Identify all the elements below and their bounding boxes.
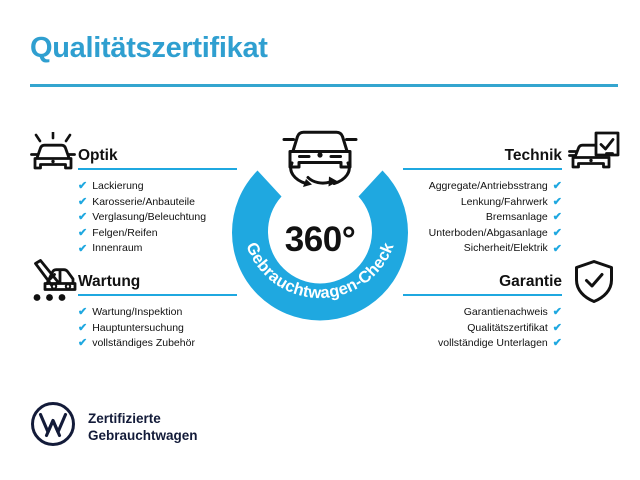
list-item-label: Lenkung/Fahrwerk bbox=[461, 195, 548, 211]
check-icon: ✔ bbox=[553, 181, 562, 192]
list-item-label: Hauptuntersuchung bbox=[92, 321, 184, 337]
section-header-technik: Technik bbox=[403, 140, 562, 170]
section-title-technik: Technik bbox=[505, 147, 562, 165]
checklist-wartung: ✔Wartung/Inspektion ✔Hauptuntersuchung ✔… bbox=[78, 305, 237, 352]
badge-360-gebrauchtwagen-check: Gebrauchtwagen-Check 360° bbox=[218, 118, 422, 322]
certificate-page: Qualitätszertifikat Optik ✔Lackierung bbox=[0, 0, 640, 480]
check-icon: ✔ bbox=[553, 338, 562, 349]
vw-logo-icon bbox=[31, 402, 75, 451]
list-item-label: Innenraum bbox=[92, 241, 142, 257]
section-garantie: Garantie Garantienachweis✔ Qualitätszert… bbox=[403, 266, 562, 352]
checklist-garantie: Garantienachweis✔ Qualitätszertifikat✔ v… bbox=[403, 305, 562, 352]
car-service-pen-icon bbox=[27, 259, 79, 310]
check-icon: ✔ bbox=[78, 307, 87, 318]
list-item: Unterboden/Abgasanlage✔ bbox=[403, 226, 562, 242]
section-underline-garantie bbox=[403, 294, 562, 297]
header-divider bbox=[30, 84, 618, 87]
list-item-label: Sicherheit/Elektrik bbox=[464, 241, 548, 257]
badge-center-label: 360° bbox=[285, 220, 355, 259]
section-title-wartung: Wartung bbox=[78, 273, 140, 291]
check-icon: ✔ bbox=[553, 212, 562, 223]
section-header-garantie: Garantie bbox=[403, 266, 562, 296]
section-underline-technik bbox=[403, 168, 562, 171]
list-item: Aggregate/Antriebsstrang✔ bbox=[403, 179, 562, 195]
list-item: ✔Wartung/Inspektion bbox=[78, 305, 237, 321]
footer-brand: Zertifizierte Gebrauchtwagen bbox=[31, 402, 198, 451]
list-item-label: Qualitätszertifikat bbox=[467, 321, 548, 337]
section-wartung: Wartung ✔Wartung/Inspektion ✔Hauptunters… bbox=[78, 266, 237, 352]
list-item: ✔Karosserie/Anbauteile bbox=[78, 195, 237, 211]
section-title-optik: Optik bbox=[78, 147, 118, 165]
check-icon: ✔ bbox=[78, 338, 87, 349]
list-item-label: Karosserie/Anbauteile bbox=[92, 195, 195, 211]
list-item: Lenkung/Fahrwerk✔ bbox=[403, 195, 562, 211]
check-icon: ✔ bbox=[78, 197, 87, 208]
check-icon: ✔ bbox=[553, 228, 562, 239]
list-item-label: Bremsanlage bbox=[486, 210, 548, 226]
footer-text: Zertifizierte Gebrauchtwagen bbox=[88, 410, 198, 444]
footer-line-1: Zertifizierte bbox=[88, 410, 198, 427]
list-item: vollständige Unterlagen✔ bbox=[403, 336, 562, 352]
section-header-optik: Optik bbox=[78, 140, 237, 170]
checklist-optik: ✔Lackierung ✔Karosserie/Anbauteile ✔Verg… bbox=[78, 179, 237, 257]
check-icon: ✔ bbox=[78, 228, 87, 239]
list-item: ✔Innenraum bbox=[78, 241, 237, 257]
check-icon: ✔ bbox=[553, 323, 562, 334]
shield-check-icon bbox=[571, 259, 617, 310]
list-item-label: Garantienachweis bbox=[464, 305, 548, 321]
list-item: ✔Verglasung/Beleuchtung bbox=[78, 210, 237, 226]
section-header-wartung: Wartung bbox=[78, 266, 237, 296]
check-icon: ✔ bbox=[78, 181, 87, 192]
list-item: Bremsanlage✔ bbox=[403, 210, 562, 226]
page-title: Qualitätszertifikat bbox=[30, 32, 268, 65]
list-item: ✔Hauptuntersuchung bbox=[78, 321, 237, 337]
list-item: Qualitätszertifikat✔ bbox=[403, 321, 562, 337]
section-optik: Optik ✔Lackierung ✔Karosserie/Anbauteile… bbox=[78, 140, 237, 257]
check-icon: ✔ bbox=[553, 307, 562, 318]
check-icon: ✔ bbox=[553, 244, 562, 255]
list-item-label: Felgen/Reifen bbox=[92, 226, 157, 242]
check-icon: ✔ bbox=[553, 197, 562, 208]
car-checkbox-icon bbox=[567, 131, 621, 180]
car-shine-icon bbox=[27, 132, 79, 181]
list-item-label: Wartung/Inspektion bbox=[92, 305, 182, 321]
section-underline-wartung bbox=[78, 294, 237, 297]
list-item: Garantienachweis✔ bbox=[403, 305, 562, 321]
list-item-label: Verglasung/Beleuchtung bbox=[92, 210, 206, 226]
list-item-label: Unterboden/Abgasanlage bbox=[429, 226, 548, 242]
list-item: ✔vollständiges Zubehör bbox=[78, 336, 237, 352]
list-item-label: vollständige Unterlagen bbox=[438, 336, 548, 352]
check-icon: ✔ bbox=[78, 323, 87, 334]
check-icon: ✔ bbox=[78, 212, 87, 223]
list-item-label: Lackierung bbox=[92, 179, 143, 195]
list-item-label: vollständiges Zubehör bbox=[92, 336, 195, 352]
checklist-technik: Aggregate/Antriebsstrang✔ Lenkung/Fahrwe… bbox=[403, 179, 562, 257]
section-technik: Technik Aggregate/Antriebsstrang✔ Lenkun… bbox=[403, 140, 562, 257]
list-item-label: Aggregate/Antriebsstrang bbox=[429, 179, 548, 195]
check-icon: ✔ bbox=[78, 244, 87, 255]
list-item: ✔Felgen/Reifen bbox=[78, 226, 237, 242]
section-title-garantie: Garantie bbox=[499, 273, 562, 291]
footer-line-2: Gebrauchtwagen bbox=[88, 427, 198, 444]
list-item: ✔Lackierung bbox=[78, 179, 237, 195]
section-underline-optik bbox=[78, 168, 237, 171]
list-item: Sicherheit/Elektrik✔ bbox=[403, 241, 562, 257]
